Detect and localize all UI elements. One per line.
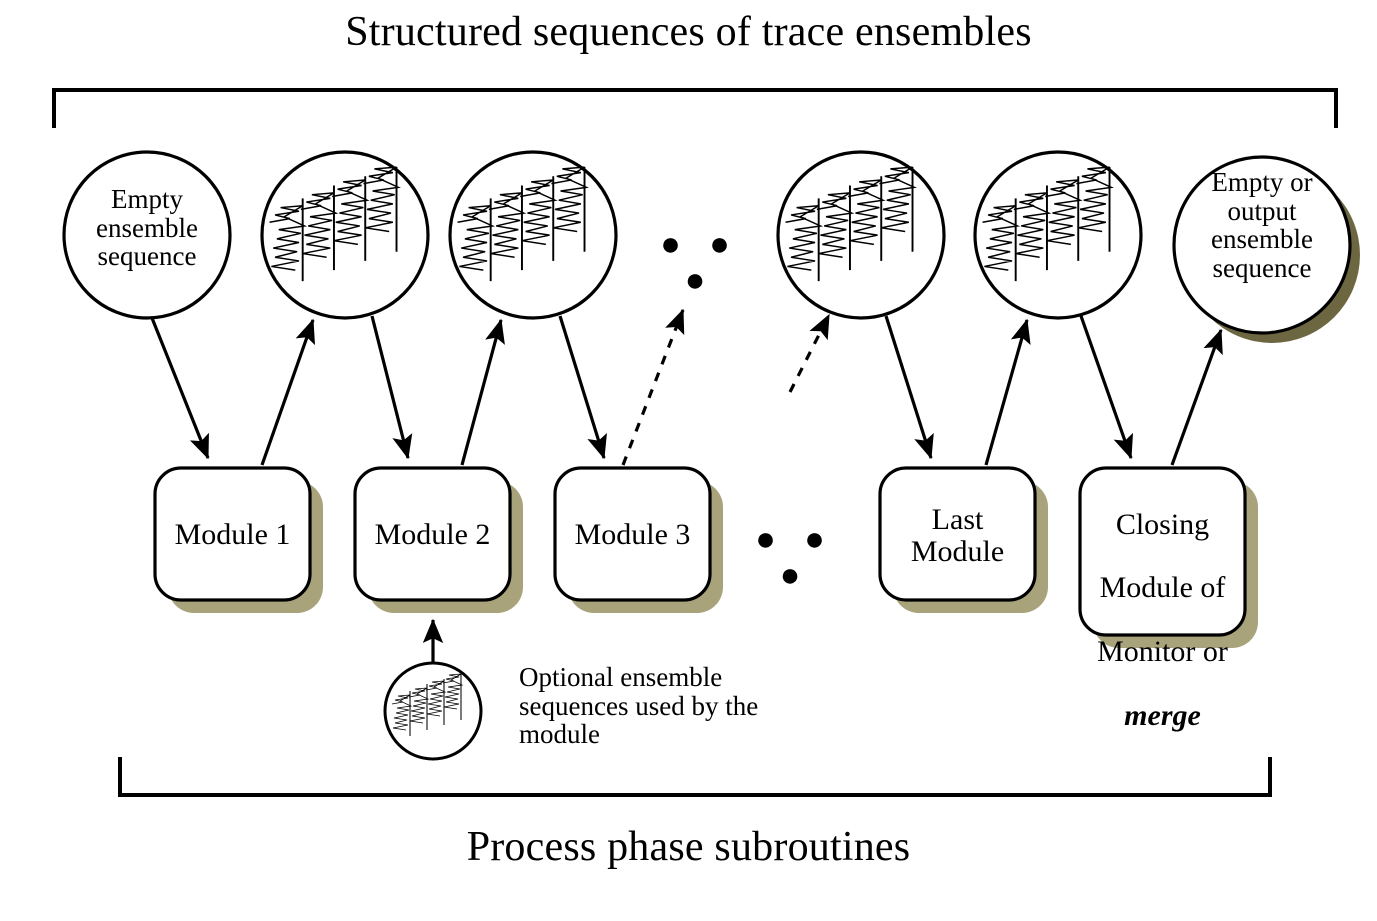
module-box-3[interactable] xyxy=(555,468,723,613)
ensemble-circle-4[interactable] xyxy=(778,152,944,318)
arrow-dashed-to-ensemble4 xyxy=(790,315,829,392)
arrow-module-closing-to-ensemble6 xyxy=(1172,330,1221,465)
optional-ensemble-circle[interactable] xyxy=(385,663,481,759)
arrow-module1-to-ensemble2 xyxy=(262,320,313,465)
arrow-ensemble3-to-module3 xyxy=(560,316,604,458)
ensemble-circle-1[interactable] xyxy=(64,152,230,318)
arrow-ensemble2-to-module2 xyxy=(372,316,408,458)
arrow-ensemble1-to-module1 xyxy=(152,318,208,458)
bottom-bracket xyxy=(120,757,1270,795)
top-bracket xyxy=(54,90,1336,128)
ensemble-circle-3[interactable] xyxy=(450,152,616,318)
arrow-module2-to-ensemble3 xyxy=(462,320,501,465)
ensemble-circle-2[interactable] xyxy=(262,152,428,318)
module-box-closing[interactable] xyxy=(1080,468,1258,648)
arrow-ensemble5-to-module-closing xyxy=(1081,316,1131,458)
module-box-1[interactable] xyxy=(155,468,323,613)
ensemble-circle-5[interactable] xyxy=(975,152,1141,318)
arrow-module3-to-top-ellipsis xyxy=(623,310,683,465)
module-box-2[interactable] xyxy=(355,468,523,613)
diagram-canvas: Structured sequences of trace ensembles … xyxy=(0,0,1377,921)
arrow-ensemble4-to-module-last xyxy=(886,316,931,458)
module-box-last[interactable] xyxy=(880,468,1048,613)
diagram-vector-layer xyxy=(0,0,1377,921)
arrow-module-last-to-ensemble5 xyxy=(986,320,1027,465)
ensemble-circle-6[interactable] xyxy=(1174,157,1360,343)
